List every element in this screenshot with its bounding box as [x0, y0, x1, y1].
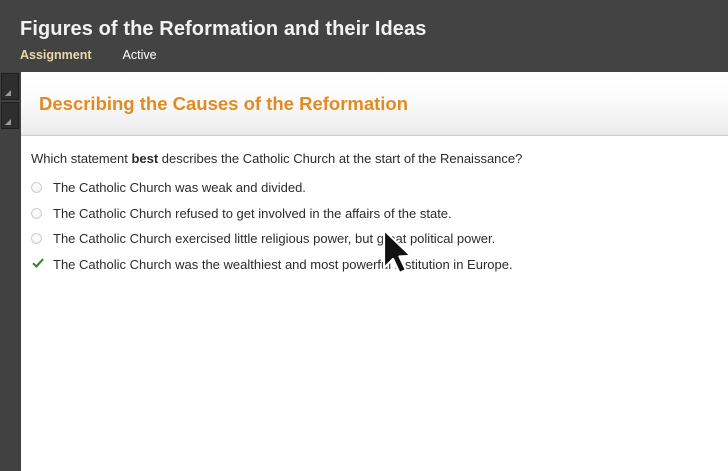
answer-option-1-label: The Catholic Church was weak and divided…	[53, 180, 306, 195]
answer-option-2[interactable]: The Catholic Church refused to get invol…	[31, 201, 721, 227]
scroll-up-arrow-icon	[5, 90, 11, 96]
answer-option-1-marker[interactable]	[31, 182, 53, 193]
scroll-up-button[interactable]	[1, 73, 19, 100]
panel-title: Describing the Causes of the Reformation	[39, 93, 408, 115]
tab-assignment[interactable]: Assignment	[20, 48, 92, 62]
question-stem-part-2: describes the Catholic Church at the sta…	[158, 151, 522, 166]
tab-active[interactable]: Active	[123, 48, 157, 62]
answer-option-4-marker[interactable]	[31, 257, 53, 271]
answer-option-3[interactable]: The Catholic Church exercised little rel…	[31, 226, 721, 252]
answer-option-2-label: The Catholic Church refused to get invol…	[53, 206, 452, 221]
check-icon	[31, 257, 45, 271]
panel-header: Describing the Causes of the Reformation	[21, 72, 728, 136]
answer-option-1[interactable]: The Catholic Church was weak and divided…	[31, 175, 721, 201]
app-header: Figures of the Reformation and their Ide…	[0, 0, 728, 72]
question-stem-part-1: Which statement	[31, 151, 131, 166]
answer-option-4-label: The Catholic Church was the wealthiest a…	[53, 257, 513, 272]
left-rail	[0, 72, 21, 471]
question-stem: Which statement best describes the Catho…	[31, 151, 522, 166]
scroll-down-arrow-icon	[5, 119, 11, 125]
answer-option-2-marker[interactable]	[31, 208, 53, 219]
answer-options-list: The Catholic Church was weak and divided…	[31, 175, 721, 277]
header-tab-bar: Assignment Active	[20, 48, 188, 62]
radio-unselected-icon[interactable]	[31, 233, 42, 244]
main-content: Describing the Causes of the Reformation…	[21, 72, 728, 471]
question-stem-emphasis: best	[131, 151, 158, 166]
scroll-down-button[interactable]	[1, 102, 19, 129]
answer-option-4[interactable]: The Catholic Church was the wealthiest a…	[31, 252, 721, 278]
radio-unselected-icon[interactable]	[31, 182, 42, 193]
page-title: Figures of the Reformation and their Ide…	[20, 18, 426, 41]
answer-option-3-label: The Catholic Church exercised little rel…	[53, 231, 495, 246]
radio-unselected-icon[interactable]	[31, 208, 42, 219]
answer-option-3-marker[interactable]	[31, 233, 53, 244]
